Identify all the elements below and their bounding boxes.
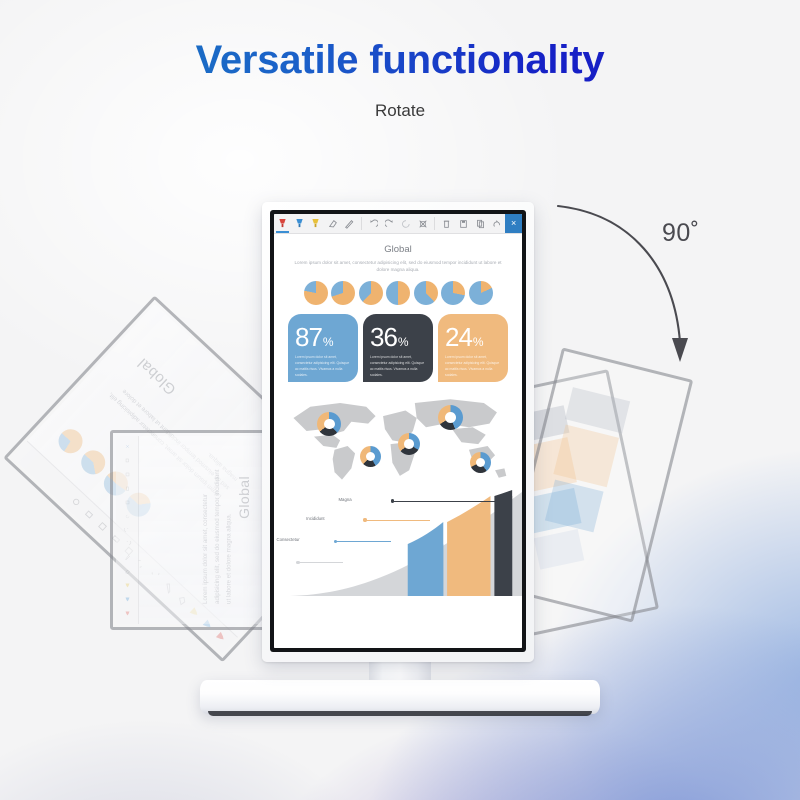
copy-tool[interactable] — [472, 214, 489, 233]
copy-icon — [476, 219, 485, 229]
label-dot — [363, 518, 366, 521]
stat-card: 36 % Lorem ipsum dolor sit amet, consect… — [363, 314, 433, 382]
scene: Versatile functionality Rotate 90˚ — [0, 0, 800, 800]
crop-icon — [123, 500, 132, 505]
monitor-base — [200, 680, 600, 714]
stat-value: 87 — [295, 324, 322, 350]
stat-card-text: Lorem ipsum dolor sit amet, consectetur … — [370, 355, 426, 378]
refresh-tool[interactable] — [398, 214, 415, 233]
crop-tool[interactable] — [415, 214, 432, 233]
toolbar-divider — [434, 217, 435, 230]
eraser-tool[interactable] — [324, 214, 341, 233]
map-donut-africa — [398, 433, 420, 455]
monitor-base-highlight — [256, 680, 544, 689]
app-toolbar: × — [274, 214, 522, 234]
chart-label-magna: Magna — [338, 497, 351, 502]
label-dot — [334, 540, 337, 543]
label-leader-line — [366, 520, 430, 521]
stat-card: 24 % Lorem ipsum dolor sit amet, consect… — [438, 314, 508, 382]
marker-icon — [123, 611, 132, 616]
crop-icon — [418, 219, 428, 229]
page-subtitle: Rotate — [0, 101, 800, 121]
monitor-screen: × Global Lorem ipsum dolor sit amet, con… — [274, 214, 522, 648]
pie-chart-row — [284, 281, 512, 305]
page-title: Versatile functionality — [0, 38, 800, 83]
stat-value: 24 — [445, 324, 472, 350]
stat-card-row: 87 % Lorem ipsum dolor sit amet, consect… — [284, 314, 512, 382]
monitor: × Global Lorem ipsum dolor sit amet, con… — [262, 202, 534, 662]
document-lead-text: Lorem ipsum dolor sit amet, consectetur … — [292, 259, 504, 273]
map-donut-oceania — [470, 452, 491, 473]
undo-icon — [123, 541, 132, 546]
share-tool[interactable] — [488, 214, 505, 233]
stat-value-wrap: 87 % — [295, 324, 351, 350]
delete-tool[interactable] — [438, 214, 455, 233]
marker-icon — [295, 218, 304, 229]
stat-value: 36 — [370, 324, 397, 350]
pie-chart — [304, 281, 328, 305]
pie-chart — [441, 281, 465, 305]
ghost-doc-title: Global — [236, 476, 252, 519]
map-donut-eurasia — [438, 405, 463, 430]
redo-tool[interactable] — [381, 214, 398, 233]
undo-tool[interactable] — [365, 214, 382, 233]
marker-icon — [123, 583, 132, 588]
marker-icon — [123, 597, 132, 602]
pie-chart — [414, 281, 438, 305]
world-map — [286, 391, 510, 486]
ghost-toolbar-b — [116, 436, 139, 624]
growth-chart: Magna Incididunt Consectetur Adipisicing — [274, 488, 522, 600]
label-leader-line — [336, 541, 391, 542]
stat-value-wrap: 36 % — [370, 324, 426, 350]
share-icon — [69, 496, 82, 509]
save-icon — [123, 472, 132, 477]
close-button[interactable]: × — [505, 214, 522, 233]
marker-blue-tool[interactable] — [291, 214, 308, 233]
label-leader-line — [393, 501, 497, 502]
eraser-icon — [328, 219, 338, 229]
share-icon — [492, 219, 502, 229]
pie-chart — [469, 281, 493, 305]
rotation-angle-label: 90˚ — [662, 219, 700, 248]
pie-chart — [331, 281, 355, 305]
pen-icon — [344, 219, 354, 229]
save-icon — [96, 520, 109, 533]
refresh-icon — [401, 219, 411, 229]
trash-icon — [442, 219, 451, 229]
chart-label-consectetur: Consectetur — [276, 537, 299, 542]
pen-icon — [123, 555, 132, 560]
ghost-pie — [76, 445, 110, 479]
pie-chart — [359, 281, 383, 305]
header-block: Versatile functionality Rotate — [0, 38, 800, 121]
stat-card-text: Lorem ipsum dolor sit amet, consectetur … — [295, 355, 351, 378]
stat-card-text: Lorem ipsum dolor sit amet, consectetur … — [445, 355, 501, 378]
document-title: Global — [284, 244, 512, 255]
chart-label-incididunt: Incididunt — [306, 516, 324, 521]
eraser-icon — [123, 569, 132, 574]
monitor-bezel: × Global Lorem ipsum dolor sit amet, con… — [270, 210, 526, 652]
ghost-doc-body: Lorem ipsum dolor sit amet, consectetur … — [200, 464, 234, 604]
save-tool[interactable] — [455, 214, 472, 233]
toolbar-divider — [361, 217, 362, 230]
close-icon — [123, 444, 132, 449]
trash-icon — [123, 486, 132, 491]
save-icon — [459, 219, 468, 229]
marker-red-tool[interactable] — [274, 214, 291, 233]
marker-yellow-tool[interactable] — [307, 214, 324, 233]
pie-chart — [386, 281, 410, 305]
stat-percent-sign: % — [398, 336, 408, 348]
pen-tool[interactable] — [341, 214, 358, 233]
label-leader-line — [299, 562, 344, 563]
refresh-icon — [123, 514, 132, 519]
document-page: Global Lorem ipsum dolor sit amet, conse… — [274, 234, 522, 648]
marker-icon — [214, 631, 227, 644]
copy-icon — [83, 508, 96, 521]
stat-percent-sign: % — [323, 336, 333, 348]
growth-chart-graphic — [274, 488, 522, 600]
redo-icon — [123, 528, 132, 533]
undo-icon — [368, 219, 378, 229]
stat-value-wrap: 24 % — [445, 324, 501, 350]
stat-percent-sign: % — [473, 336, 483, 348]
ghost-pie — [54, 424, 88, 458]
redo-icon — [385, 219, 395, 229]
marker-icon — [278, 218, 287, 229]
marker-icon — [311, 218, 320, 229]
stat-card: 87 % Lorem ipsum dolor sit amet, consect… — [288, 314, 358, 382]
copy-icon — [123, 458, 132, 463]
label-dot — [391, 499, 394, 502]
